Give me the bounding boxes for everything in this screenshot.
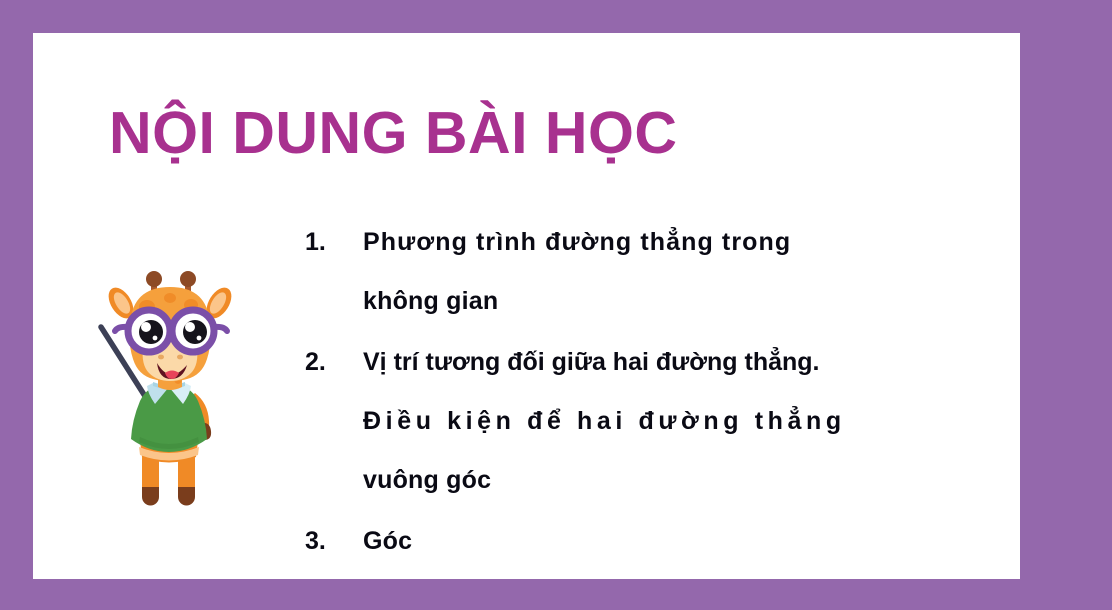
list-item-line: Góc	[363, 512, 995, 571]
content-card: NỘI DUNG BÀI HỌC	[33, 33, 1020, 579]
list-item-line: không gian	[363, 272, 995, 331]
list-item-text: Vị trí tương đối giữa hai đường thẳng. Đ…	[363, 333, 995, 510]
list-item-line: Vị trí tương đối giữa hai đường thẳng.	[363, 333, 995, 392]
list-item: 1. Phương trình đường thẳng trong không …	[305, 213, 995, 331]
lesson-content-list: 1. Phương trình đường thẳng trong không …	[305, 213, 995, 571]
list-item-text: Góc	[363, 512, 995, 571]
page-title: NỘI DUNG BÀI HỌC	[109, 103, 678, 165]
giraffe-teacher-illustration	[95, 265, 247, 513]
list-item-number: 2.	[305, 333, 363, 392]
list-item-line: vuông góc	[363, 451, 995, 510]
list-item-text: Phương trình đường thẳng trong không gia…	[363, 213, 995, 331]
slide-root: NỘI DUNG BÀI HỌC	[0, 0, 1112, 610]
list-item-line: Phương trình đường thẳng trong	[363, 213, 995, 272]
list-item: 2. Vị trí tương đối giữa hai đường thẳng…	[305, 333, 995, 510]
list-item: 3. Góc	[305, 512, 995, 571]
list-item-number: 1.	[305, 213, 363, 272]
list-item-line: Điều kiện để hai đường thẳng	[363, 392, 995, 451]
list-item-number: 3.	[305, 512, 363, 571]
